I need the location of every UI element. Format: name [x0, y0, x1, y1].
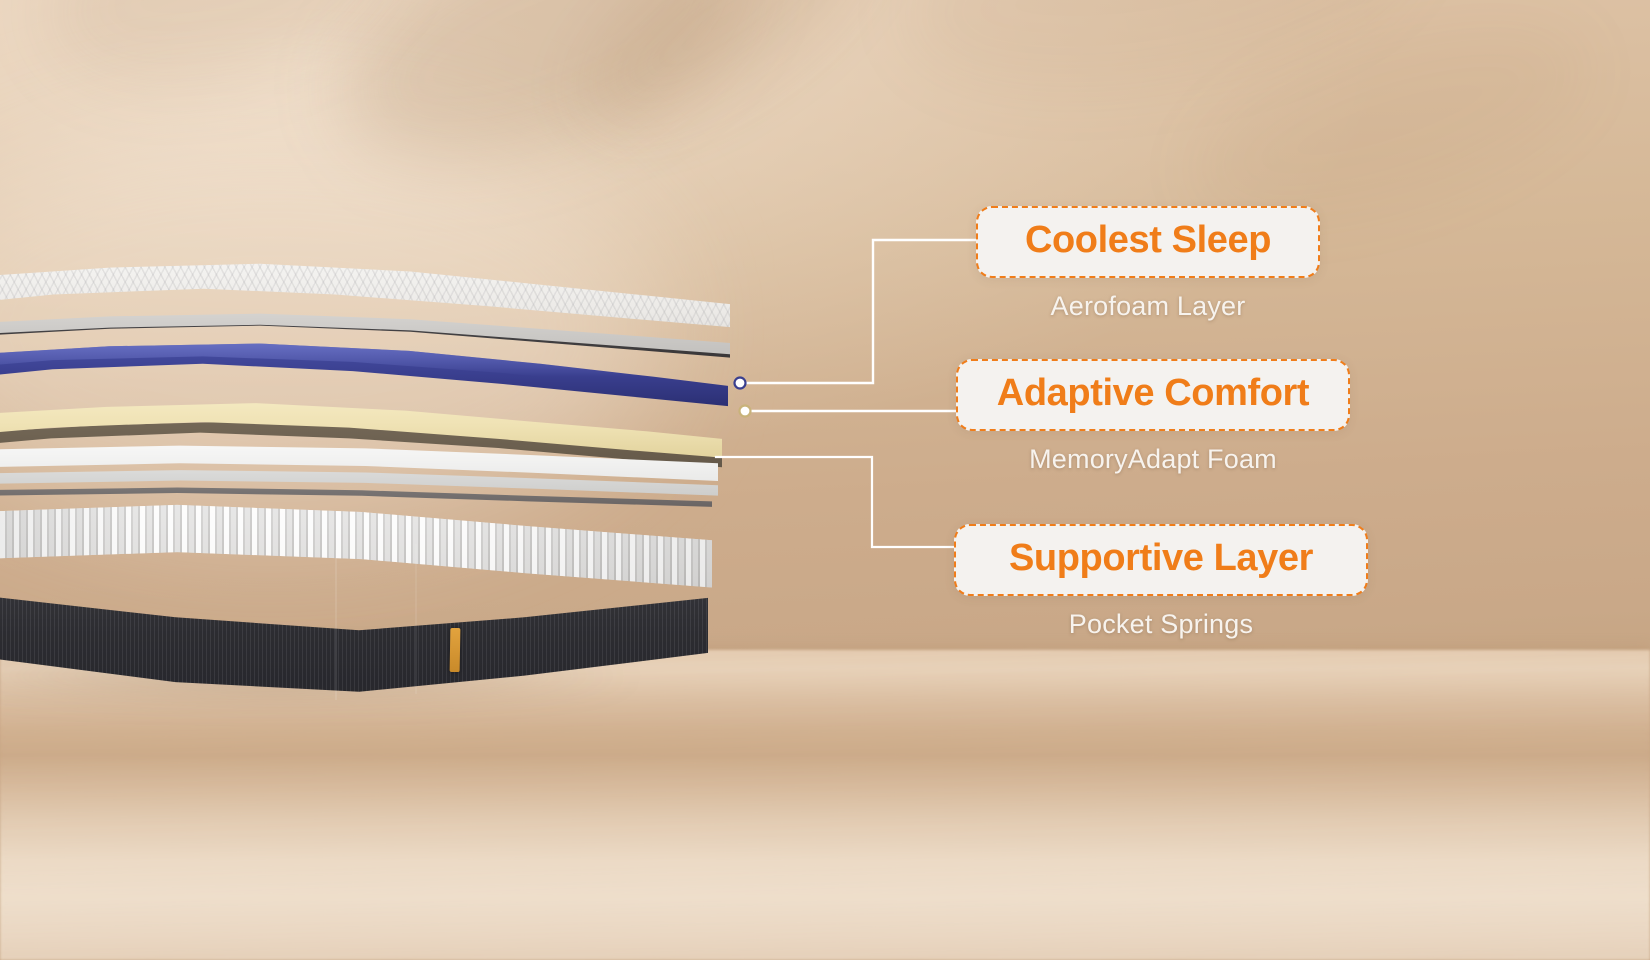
layer-dark-fabric-seam: [335, 550, 337, 700]
layer-dark-fabric-seam: [415, 544, 417, 694]
badge-label: Supportive Layer: [1009, 536, 1313, 581]
callout-coolest-sleep[interactable]: Coolest Sleep Aerofoam Layer: [976, 206, 1320, 322]
callout-supportive-layer[interactable]: Supportive Layer Pocket Springs: [954, 524, 1368, 640]
badge-coolest-sleep[interactable]: Coolest Sleep: [976, 206, 1320, 278]
callout-subtitle: MemoryAdapt Foam: [956, 444, 1350, 475]
callout-subtitle: Pocket Springs: [954, 609, 1368, 640]
wall-shadow-wisp: [887, 0, 1434, 124]
badge-label: Coolest Sleep: [1025, 218, 1271, 263]
badge-supportive-layer[interactable]: Supportive Layer: [954, 524, 1368, 596]
badge-label: Adaptive Comfort: [997, 371, 1309, 416]
layer-pocket-springs-shading: [0, 486, 712, 604]
badge-adaptive-comfort[interactable]: Adaptive Comfort: [956, 359, 1350, 431]
callout-subtitle: Aerofoam Layer: [976, 291, 1320, 322]
mattress-cutaway-image: [0, 250, 740, 680]
callout-adaptive-comfort[interactable]: Adaptive Comfort MemoryAdapt Foam: [956, 359, 1350, 475]
wall-shadow-wisp: [555, 0, 896, 162]
brand-tab-icon: [450, 628, 461, 672]
wall-shadow-wisp: [22, 0, 417, 121]
